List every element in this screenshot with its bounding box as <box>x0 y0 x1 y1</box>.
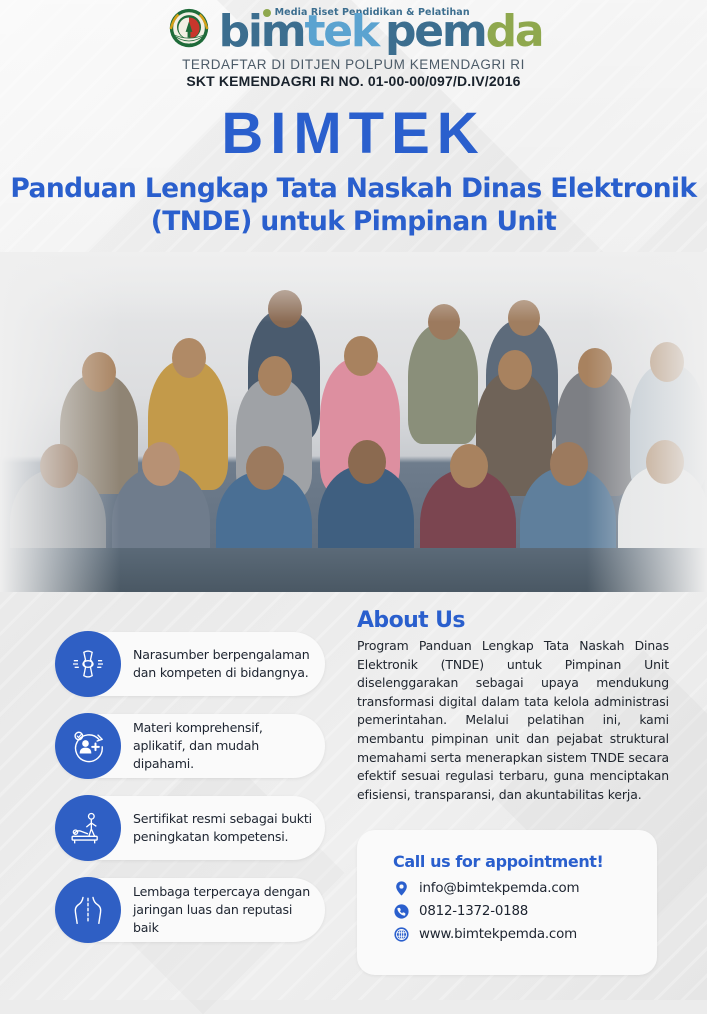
page-title: BIMTEK <box>0 105 707 163</box>
photo-fade-right <box>587 252 707 592</box>
photo-person-head <box>258 356 292 396</box>
registration-line-1: TERDAFTAR DI DITJEN POLPUM KEMENDAGRI RI <box>0 57 707 72</box>
list-item[interactable]: Materi komprehensif, aplikatif, dan muda… <box>55 714 325 778</box>
poster-header: BHINEKA Media Riset Pendidikan & Pelatih… <box>0 0 707 89</box>
phone-icon <box>393 903 410 920</box>
page-subtitle: Panduan Lengkap Tata Naskah Dinas Elektr… <box>0 172 707 239</box>
location-pin-icon <box>393 880 410 897</box>
contact-heading: Call us for appointment! <box>393 852 657 871</box>
globe-icon <box>393 926 410 943</box>
wordmark-part-tek: tek <box>304 6 378 57</box>
list-item[interactable]: Lembaga terpercaya dengan jaringan luas … <box>55 878 325 942</box>
kemendagri-emblem-icon: BHINEKA <box>165 5 213 53</box>
features-list: Narasumber berpengalaman dan kompeten di… <box>55 632 325 960</box>
contact-email-text: info@bimtekpemda.com <box>419 881 579 896</box>
wordmark-part-da: da <box>486 6 543 57</box>
photo-person-head <box>246 446 284 490</box>
page-subtitle-line-2: (TNDE) untuk Pimpinan Unit <box>0 205 707 238</box>
brand-logo: BHINEKA Media Riset Pendidikan & Pelatih… <box>0 5 707 53</box>
wordmark-text: bimtekpemda <box>219 14 543 50</box>
spine-back-icon <box>55 877 121 943</box>
list-item[interactable]: Sertifikat resmi sebagai bukti peningkat… <box>55 796 325 860</box>
contact-phone-row[interactable]: 0812-1372-0188 <box>393 903 657 920</box>
photo-person <box>408 324 478 444</box>
photo-fade-left <box>0 252 120 592</box>
contact-website-text: www.bimtekpemda.com <box>419 927 577 942</box>
brand-wordmark: Media Riset Pendidikan & Pelatihan bimte… <box>219 7 543 50</box>
photo-person-head <box>344 336 378 376</box>
photo-person-head <box>550 442 588 486</box>
contact-phone-text: 0812-1372-0188 <box>419 904 528 919</box>
physiotherapy-icon <box>55 795 121 861</box>
photo-person-head <box>498 350 532 390</box>
contact-email-row[interactable]: info@bimtekpemda.com <box>393 880 657 897</box>
add-person-care-icon <box>55 713 121 779</box>
photo-person-head <box>142 442 180 486</box>
svg-text:BHINEKA: BHINEKA <box>181 42 197 46</box>
photo-person-head <box>172 338 206 378</box>
contact-card: Call us for appointment! info@bimtekpemd… <box>357 830 657 975</box>
about-body-text: Program Panduan Lengkap Tata Naskah Dina… <box>357 637 669 804</box>
photo-person-head <box>348 440 386 484</box>
wordmark-part-bim: bim <box>219 6 305 57</box>
wordmark-part-pem: pem <box>385 6 486 57</box>
about-section: About Us Program Panduan Lengkap Tata Na… <box>357 608 669 804</box>
about-heading: About Us <box>357 608 669 633</box>
group-photo <box>0 252 707 592</box>
page-subtitle-line-1: Panduan Lengkap Tata Naskah Dinas Elektr… <box>0 172 707 205</box>
list-item[interactable]: Narasumber berpengalaman dan kompeten di… <box>55 632 325 696</box>
photo-person-head <box>450 444 488 488</box>
registration-line-2: SKT KEMENDAGRI RI NO. 01-00-00/097/D.IV/… <box>0 73 707 89</box>
joint-health-icon <box>55 631 121 697</box>
contact-website-row[interactable]: www.bimtekpemda.com <box>393 926 657 943</box>
